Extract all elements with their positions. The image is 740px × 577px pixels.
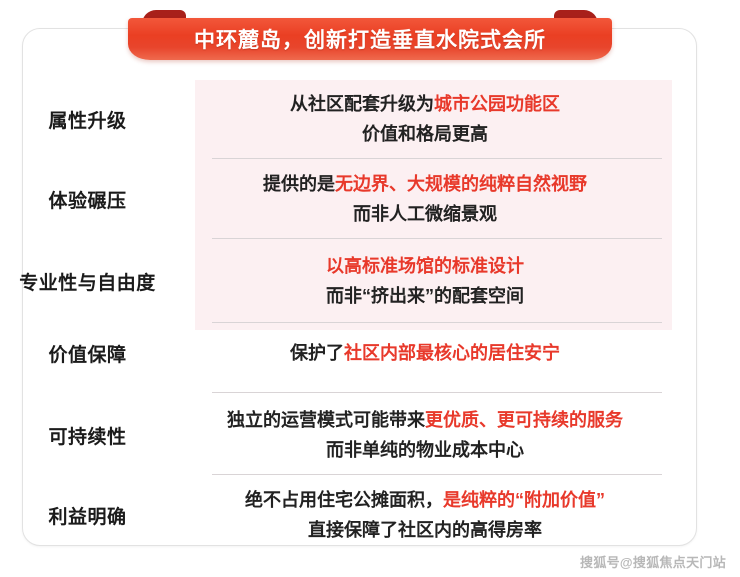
highlighted-text: 以高标准场馆的标准设计 xyxy=(326,256,524,276)
watermark: 搜狐号@搜狐焦点天门站 xyxy=(580,552,726,571)
plain-text: 从社区配套升级为 xyxy=(290,94,434,114)
row-line: 而非人工微缩景观 xyxy=(183,199,667,229)
highlighted-text: 城市公园功能区 xyxy=(434,94,560,114)
row-divider xyxy=(212,158,662,159)
row-line: 直接保障了社区内的高得房率 xyxy=(183,515,667,545)
table-row: 体验碾压提供的是无边界、大规模的纯粹自然视野而非人工微缩景观 xyxy=(0,168,675,230)
plain-text: 提供的是 xyxy=(263,174,335,194)
row-content: 保护了社区内部最核心的居住安宁 xyxy=(175,338,675,368)
plain-text: 直接保障了社区内的高得房率 xyxy=(308,520,542,540)
plain-text: 而非“挤出来”的配套空间 xyxy=(326,286,524,306)
table-row: 专业性与自由度以高标准场馆的标准设计而非“挤出来”的配套空间 xyxy=(0,248,675,314)
plain-text: 保护了 xyxy=(290,343,344,363)
plain-text: 而非单纯的物业成本中心 xyxy=(326,440,524,460)
row-divider xyxy=(212,474,662,475)
highlighted-text: 无边界、大规模的纯粹自然视野 xyxy=(335,174,587,194)
row-content: 绝不占用住宅公摊面积，是纯粹的“附加价值”直接保障了社区内的高得房率 xyxy=(175,485,675,545)
plain-text: 独立的运营模式可能带来 xyxy=(227,410,425,430)
row-line: 而非“挤出来”的配套空间 xyxy=(183,281,667,311)
row-content: 以高标准场馆的标准设计而非“挤出来”的配套空间 xyxy=(175,251,675,311)
highlighted-text: 更优质、更可持续的服务 xyxy=(425,410,623,430)
banner-ribbon: 中环麓岛，创新打造垂直水院式会所 xyxy=(128,18,612,60)
row-content: 从社区配套升级为城市公园功能区价值和格局更高 xyxy=(175,89,675,149)
row-line: 而非单纯的物业成本中心 xyxy=(183,435,667,465)
plain-text: 绝不占用住宅公摊面积， xyxy=(245,490,443,510)
row-divider xyxy=(212,392,662,393)
row-line: 绝不占用住宅公摊面积，是纯粹的“附加价值” xyxy=(183,485,667,515)
banner-container: 中环麓岛，创新打造垂直水院式会所 xyxy=(0,0,740,70)
banner-title: 中环麓岛，创新打造垂直水院式会所 xyxy=(194,24,546,54)
row-label: 专业性与自由度 xyxy=(0,268,175,295)
row-label: 可持续性 xyxy=(0,422,175,449)
row-line: 从社区配套升级为城市公园功能区 xyxy=(183,89,667,119)
row-line: 价值和格局更高 xyxy=(183,119,667,149)
table-row: 可持续性独立的运营模式可能带来更优质、更可持续的服务而非单纯的物业成本中心 xyxy=(0,404,675,466)
table-row: 利益明确绝不占用住宅公摊面积，是纯粹的“附加价值”直接保障了社区内的高得房率 xyxy=(0,484,675,546)
row-line: 保护了社区内部最核心的居住安宁 xyxy=(183,338,667,368)
row-label: 属性升级 xyxy=(0,106,175,133)
row-line: 独立的运营模式可能带来更优质、更可持续的服务 xyxy=(183,405,667,435)
highlighted-text: 社区内部最核心的居住安宁 xyxy=(344,343,560,363)
row-content: 独立的运营模式可能带来更优质、更可持续的服务而非单纯的物业成本中心 xyxy=(175,405,675,465)
row-line: 提供的是无边界、大规模的纯粹自然视野 xyxy=(183,169,667,199)
row-content: 提供的是无边界、大规模的纯粹自然视野而非人工微缩景观 xyxy=(175,169,675,229)
row-label: 价值保障 xyxy=(0,340,175,367)
row-line: 以高标准场馆的标准设计 xyxy=(183,251,667,281)
highlighted-text: 是纯粹的“附加价值” xyxy=(443,490,605,510)
row-label: 体验碾压 xyxy=(0,186,175,213)
table-row: 价值保障保护了社区内部最核心的居住安宁 xyxy=(0,330,675,376)
table-row: 属性升级从社区配套升级为城市公园功能区价值和格局更高 xyxy=(0,88,675,150)
plain-text: 而非人工微缩景观 xyxy=(353,204,497,224)
row-label: 利益明确 xyxy=(0,502,175,529)
plain-text: 价值和格局更高 xyxy=(362,124,488,144)
row-divider xyxy=(212,238,662,239)
row-divider xyxy=(212,322,662,323)
